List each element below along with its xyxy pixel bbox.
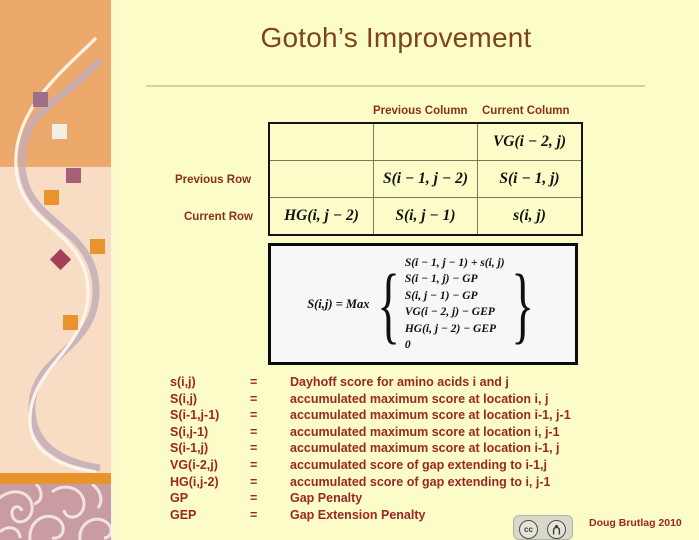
creative-commons-badge[interactable]: cc [513, 515, 573, 540]
matrix-cell [269, 161, 374, 198]
formula-case: VG(i − 2, j) − GEP [405, 304, 505, 321]
list-item: HG(i,j-2)=accumulated score of gap exten… [170, 474, 571, 491]
definition-equals: = [250, 424, 290, 441]
symbol-definitions-list: s(i,j)=Dayhoff score for amino acids i a… [170, 374, 571, 523]
list-item: s(i,j)=Dayhoff score for amino acids i a… [170, 374, 571, 391]
definition-text: accumulated maximum score at location i,… [290, 391, 548, 408]
definition-equals: = [250, 374, 290, 391]
definition-symbol: VG(i-2,j) [170, 457, 250, 474]
definition-text: accumulated maximum score at location i-… [290, 440, 560, 457]
label-current-row: Current Row [184, 211, 253, 223]
definition-text: accumulated score of gap extending to i,… [290, 474, 550, 491]
definition-symbol: S(i,j) [170, 391, 250, 408]
definition-symbol: HG(i,j-2) [170, 474, 250, 491]
label-previous-row: Previous Row [175, 174, 251, 186]
formula-case: 0 [405, 337, 505, 354]
formula-brace-left: { [377, 269, 400, 340]
list-item: S(i,j)=accumulated maximum score at loca… [170, 391, 571, 408]
definition-text: Gap Extension Penalty [290, 507, 425, 524]
sidebar-square-orange-2 [90, 239, 105, 254]
cc-attribution-icon [547, 520, 566, 539]
slide-title: Gotoh’s Improvement [146, 22, 646, 54]
definition-text: Dayhoff score for amino acids i and j [290, 374, 509, 391]
cc-logo-icon: cc [519, 520, 538, 539]
definition-equals: = [250, 490, 290, 507]
list-item: S(i,j-1)=accumulated maximum score at lo… [170, 424, 571, 441]
matrix-cell: S(i, j − 1) [374, 198, 478, 236]
recurrence-formula-box: S(i,j) = Max { S(i − 1, j − 1) + s(i, j)… [268, 243, 578, 365]
matrix-cell: S(i − 1, j − 2) [374, 161, 478, 198]
title-divider-rule [146, 85, 645, 87]
matrix-cell: HG(i, j − 2) [269, 198, 374, 236]
matrix-cell: S(i − 1, j) [478, 161, 583, 198]
definition-symbol: GEP [170, 507, 250, 524]
definition-equals: = [250, 474, 290, 491]
sidebar-orange-bar [0, 473, 111, 484]
sidebar-edge-highlight [111, 0, 115, 540]
formula-content: S(i,j) = Max { S(i − 1, j − 1) + s(i, j)… [271, 246, 575, 362]
table-row: S(i − 1, j − 2) S(i − 1, j) [269, 161, 582, 198]
formula-case: S(i − 1, j − 1) + s(i, j) [405, 255, 505, 272]
definition-text: accumulated score of gap extending to i-… [290, 457, 547, 474]
dp-matrix-table: VG(i − 2, j) S(i − 1, j − 2) S(i − 1, j)… [268, 122, 583, 236]
matrix-cell [374, 123, 478, 161]
sidebar-square-mauve-1 [33, 92, 48, 107]
author-credit: Doug Brutlag 2010 [589, 517, 682, 529]
definition-equals: = [250, 507, 290, 524]
sidebar-square-orange-1 [44, 190, 59, 205]
definition-text: Gap Penalty [290, 490, 362, 507]
list-item: S(i-1,j-1)=accumulated maximum score at … [170, 407, 571, 424]
definition-equals: = [250, 407, 290, 424]
definition-equals: = [250, 457, 290, 474]
formula-case: S(i − 1, j) − GP [405, 271, 505, 288]
list-item: GEP=Gap Extension Penalty [170, 507, 571, 524]
formula-case: S(i, j − 1) − GP [405, 288, 505, 305]
matrix-cell: VG(i − 2, j) [478, 123, 583, 161]
list-item: GP=Gap Penalty [170, 490, 571, 507]
definition-text: accumulated maximum score at location i,… [290, 424, 560, 441]
sidebar-square-orange-3 [63, 315, 78, 330]
formula-case: HG(i, j − 2) − GEP [405, 321, 505, 338]
matrix-cell [269, 123, 374, 161]
definition-equals: = [250, 440, 290, 457]
definition-symbol: s(i,j) [170, 374, 250, 391]
decorative-sidebar [0, 0, 111, 540]
formula-cases-list: S(i − 1, j − 1) + s(i, j) S(i − 1, j) − … [405, 255, 505, 354]
definition-symbol: S(i-1,j) [170, 440, 250, 457]
sidebar-square-mauve-2 [66, 168, 81, 183]
definition-text: accumulated maximum score at location i-… [290, 407, 571, 424]
label-previous-column: Previous Column [373, 105, 468, 117]
definition-symbol: GP [170, 490, 250, 507]
sidebar-paisley-texture [0, 484, 111, 540]
list-item: S(i-1,j)=accumulated maximum score at lo… [170, 440, 571, 457]
definition-equals: = [250, 391, 290, 408]
sidebar-square-cream [52, 124, 67, 139]
definition-symbol: S(i-1,j-1) [170, 407, 250, 424]
definition-symbol: S(i,j-1) [170, 424, 250, 441]
formula-brace-right: } [511, 269, 534, 340]
slide-canvas: Gotoh’s Improvement Previous Column Curr… [0, 0, 699, 540]
matrix-cell: s(i, j) [478, 198, 583, 236]
list-item: VG(i-2,j)=accumulated score of gap exten… [170, 457, 571, 474]
table-row: HG(i, j − 2) S(i, j − 1) s(i, j) [269, 198, 582, 236]
formula-lhs: S(i,j) = Max [307, 297, 369, 312]
label-current-column: Current Column [482, 105, 570, 117]
table-row: VG(i − 2, j) [269, 123, 582, 161]
person-icon [551, 524, 562, 535]
